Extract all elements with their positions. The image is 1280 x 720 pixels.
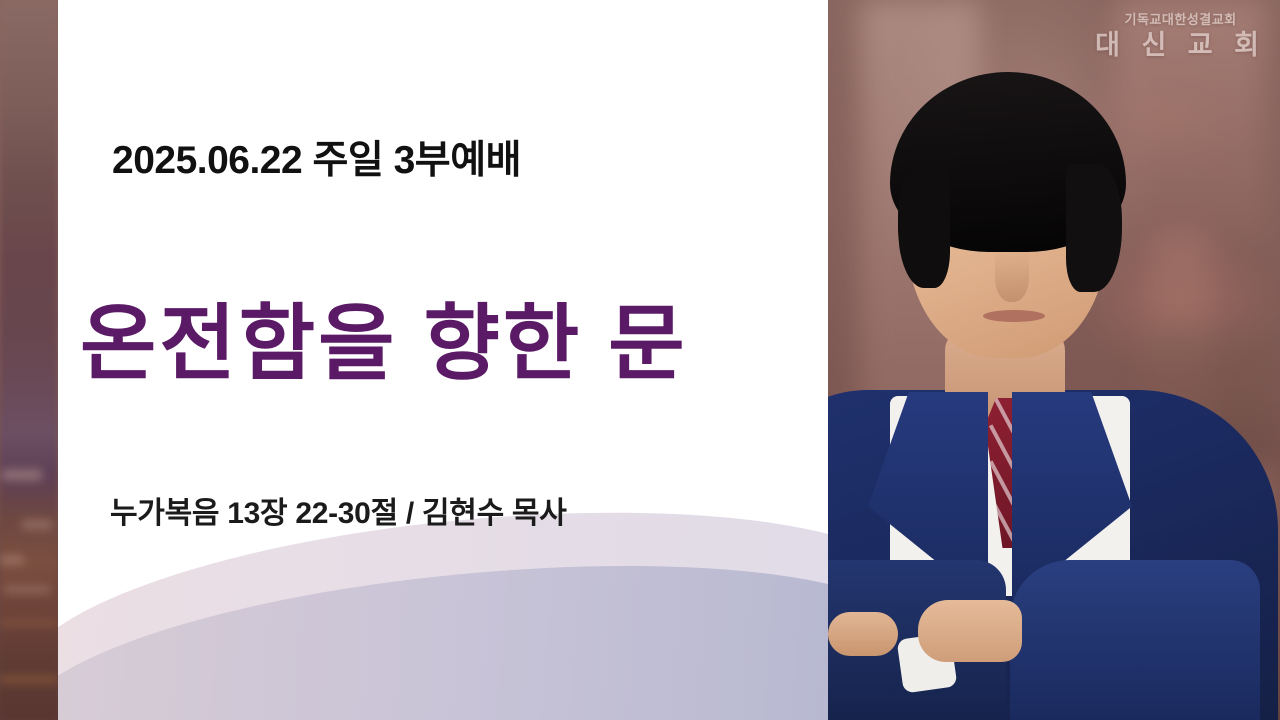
background-highlight <box>0 556 24 564</box>
scripture-and-speaker-line: 누가복음 13장 22-30절 / 김현수 목사 <box>110 488 567 532</box>
background-highlight <box>4 586 50 593</box>
denomination-label: 기독교대한성결교회 <box>1095 12 1266 28</box>
church-name-label: 대 신 교 회 <box>1095 29 1266 63</box>
sermon-title: 온전함을 향한 문 <box>80 276 688 396</box>
white-content-card: 2025.06.22 주일 3부예배 온전함을 향한 문 누가복음 13장 22… <box>58 0 828 720</box>
hair <box>890 72 1126 252</box>
mouth <box>983 310 1045 322</box>
background-highlight <box>2 470 42 480</box>
nose <box>995 250 1029 302</box>
service-date-line: 2025.06.22 주일 3부예배 <box>112 129 521 185</box>
hand-upper <box>918 600 1022 662</box>
background-highlight <box>0 620 58 626</box>
crossed-arm-right <box>1010 560 1260 720</box>
church-logo-watermark: 기독교대한성결교회 대 신 교 회 <box>1095 12 1266 62</box>
slide-text-block: 2025.06.22 주일 3부예배 온전함을 향한 문 누가복음 13장 22… <box>58 0 828 720</box>
left-blurred-edge-strip <box>0 0 58 720</box>
hand-lower <box>828 612 898 656</box>
background-highlight <box>22 520 52 529</box>
background-highlight <box>0 676 58 683</box>
sermon-title-slide: 2025.06.22 주일 3부예배 온전함을 향한 문 누가복음 13장 22… <box>0 0 1280 720</box>
